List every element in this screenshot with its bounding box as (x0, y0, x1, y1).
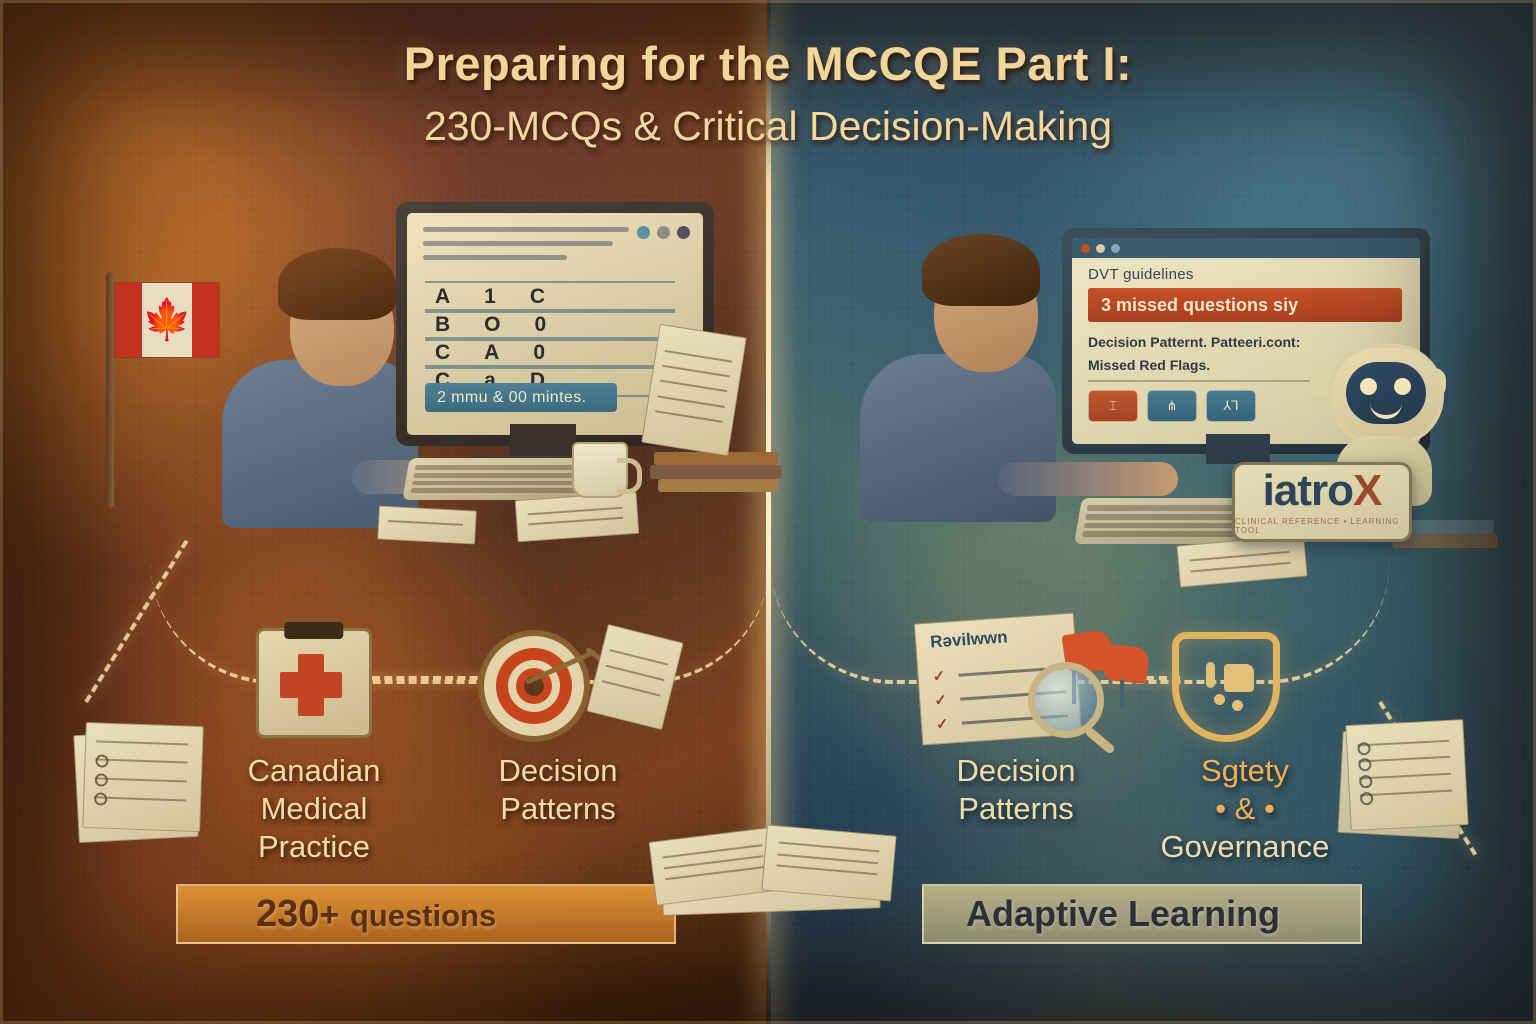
book-stack-right (1398, 520, 1494, 534)
student-right-arm (998, 462, 1178, 496)
coffee-mug (572, 442, 628, 498)
shield-glyph-dot-1 (1214, 694, 1225, 705)
answer-b-option: B (435, 313, 450, 337)
clipboard-clip (284, 622, 343, 639)
shield-glyph-block (1224, 664, 1254, 692)
student-right-hair (922, 234, 1040, 306)
flag-band-right (192, 283, 219, 357)
canadian-flag: 🍁 (114, 282, 220, 358)
left-keyboard[interactable] (402, 458, 599, 500)
answer-b-mid: O (484, 313, 500, 337)
checklist-form-icon-left (72, 724, 204, 842)
desk-paper-left-3 (377, 505, 477, 544)
banner-questions-text: 230+ questions (256, 893, 496, 936)
book-stack-left-2 (650, 465, 782, 479)
dvt-guidelines-heading: DVT guidelines (1088, 266, 1194, 283)
answer-c-end: 0 (533, 341, 545, 365)
iatrox-logo[interactable]: iatroX CLINICAL REFERENCE • LEARNING TOO… (1232, 462, 1412, 542)
decision-pattern-line: Decision Patternt. Patteeri.cont: (1088, 334, 1300, 350)
shield-glyph-hook (1206, 662, 1215, 688)
checklist-sheet-right (1345, 719, 1468, 831)
label-safety-and-governance: Sgtety • & • Governance (1130, 752, 1360, 865)
label-sg-l1: Sgtety (1130, 752, 1360, 790)
missed-questions-alert: 3 missed questions siy (1088, 288, 1402, 322)
red-cross-icon-bar (280, 672, 342, 698)
answer-a-option: A (435, 285, 450, 309)
banner-questions: 230+ questions (176, 886, 676, 942)
logo-wordmark: iatroX (1263, 469, 1382, 513)
student-left-torso (222, 360, 418, 528)
flag-band-left (115, 283, 142, 357)
review-check-2: ✓ (934, 690, 952, 708)
banner-adaptive-learning: Adaptive Learning (922, 886, 1362, 942)
banner-questions-plus: + (319, 896, 339, 934)
magnifier-icon (1028, 662, 1104, 738)
right-monitor-stand (1206, 434, 1270, 464)
left-window-dots (637, 226, 690, 239)
maple-leaf-icon: 🍁 (142, 300, 192, 340)
banner-questions-inner: 230+ questions (176, 884, 676, 944)
logo-subtext: CLINICAL REFERENCE • LEARNING TOOL (1235, 517, 1409, 535)
review-check-1: ✓ (932, 666, 950, 684)
flag-band-center: 🍁 (142, 283, 192, 357)
target-bullseye-icon (478, 630, 590, 742)
answer-a-end: C (530, 285, 545, 309)
label-cmp-l3: Practice (214, 828, 414, 866)
label-decision-patterns-left: Decision Patterns (458, 752, 658, 828)
exam-timer: 2 mmu & 00 mintes. (425, 383, 617, 412)
label-dp-right-l1: Decision (916, 752, 1116, 790)
title-line-2: 230-MCQs & Critical Decision-Making (0, 103, 1536, 150)
right-window-titlebar (1072, 238, 1420, 258)
book-stack-left-3 (658, 479, 778, 492)
label-dp-left-l1: Decision (458, 752, 658, 790)
review-check-3: ✓ (935, 714, 953, 732)
desk-paper-left-2 (515, 492, 640, 542)
banner-questions-number: 230 (256, 893, 319, 935)
flag-button[interactable]: ⌶ (1088, 390, 1138, 422)
checklist-sheet-left (82, 722, 204, 832)
robot-smile (1370, 400, 1402, 419)
chart-button[interactable]: ⋔ (1147, 390, 1197, 422)
clipboard-medical-icon (256, 628, 372, 738)
label-cmp-l2: Medical (214, 790, 414, 828)
shield-glyph-dot-2 (1232, 700, 1243, 711)
label-sg-l2: • & • (1130, 790, 1360, 828)
flag-pole (106, 272, 114, 508)
left-question-text (423, 227, 629, 269)
robot-head (1328, 344, 1444, 446)
notes-button[interactable]: ⅄⅂ (1206, 390, 1256, 422)
answer-c-mid: A (484, 341, 499, 365)
label-dp-right-l2: Patterns (916, 790, 1116, 828)
student-left-hair (278, 248, 396, 320)
left-monitor-stand (510, 424, 576, 458)
banner-adaptive-text: Adaptive Learning (966, 893, 1280, 935)
student-right-torso (860, 354, 1056, 522)
label-decision-patterns-right: Decision Patterns (916, 752, 1116, 828)
center-paper-right (761, 824, 896, 901)
banner-questions-word: questions (350, 898, 496, 933)
page-title: Preparing for the MCCQE Part I: 230-MCQs… (0, 36, 1536, 150)
label-dp-left-l2: Patterns (458, 790, 658, 828)
screen-button-row: ⌶ ⋔ ⅄⅂ (1088, 390, 1256, 422)
label-cmp-l1: Canadian (214, 752, 414, 790)
label-sg-l3: Governance (1130, 828, 1360, 866)
banner-adaptive-inner: Adaptive Learning (922, 884, 1362, 944)
red-flag-pole-2 (1120, 680, 1124, 708)
review-heading: Rǝvilwwn (930, 627, 1009, 652)
missed-red-flags-line: Missed Red Flags. (1088, 357, 1210, 373)
robot-face (1346, 362, 1426, 424)
logo-text-main: iatro (1263, 466, 1353, 515)
desk-paper-left-1 (641, 324, 747, 456)
red-flag-2 (1102, 644, 1150, 684)
robot-eye-left (1360, 378, 1377, 395)
title-line-1: Preparing for the MCCQE Part I: (0, 36, 1536, 91)
answer-a-mid: 1 (484, 285, 496, 309)
label-canadian-medical-practice: Canadian Medical Practice (214, 752, 414, 865)
robot-eye-right (1394, 378, 1411, 395)
logo-text-accent: X (1353, 466, 1381, 515)
center-stacked-papers (648, 826, 898, 918)
infographic-canvas: Preparing for the MCCQE Part I: 230-MCQs… (0, 0, 1536, 1024)
answer-c-option: C (435, 341, 450, 365)
answer-b-end: 0 (535, 313, 547, 337)
shield-governance-icon (1172, 632, 1280, 742)
